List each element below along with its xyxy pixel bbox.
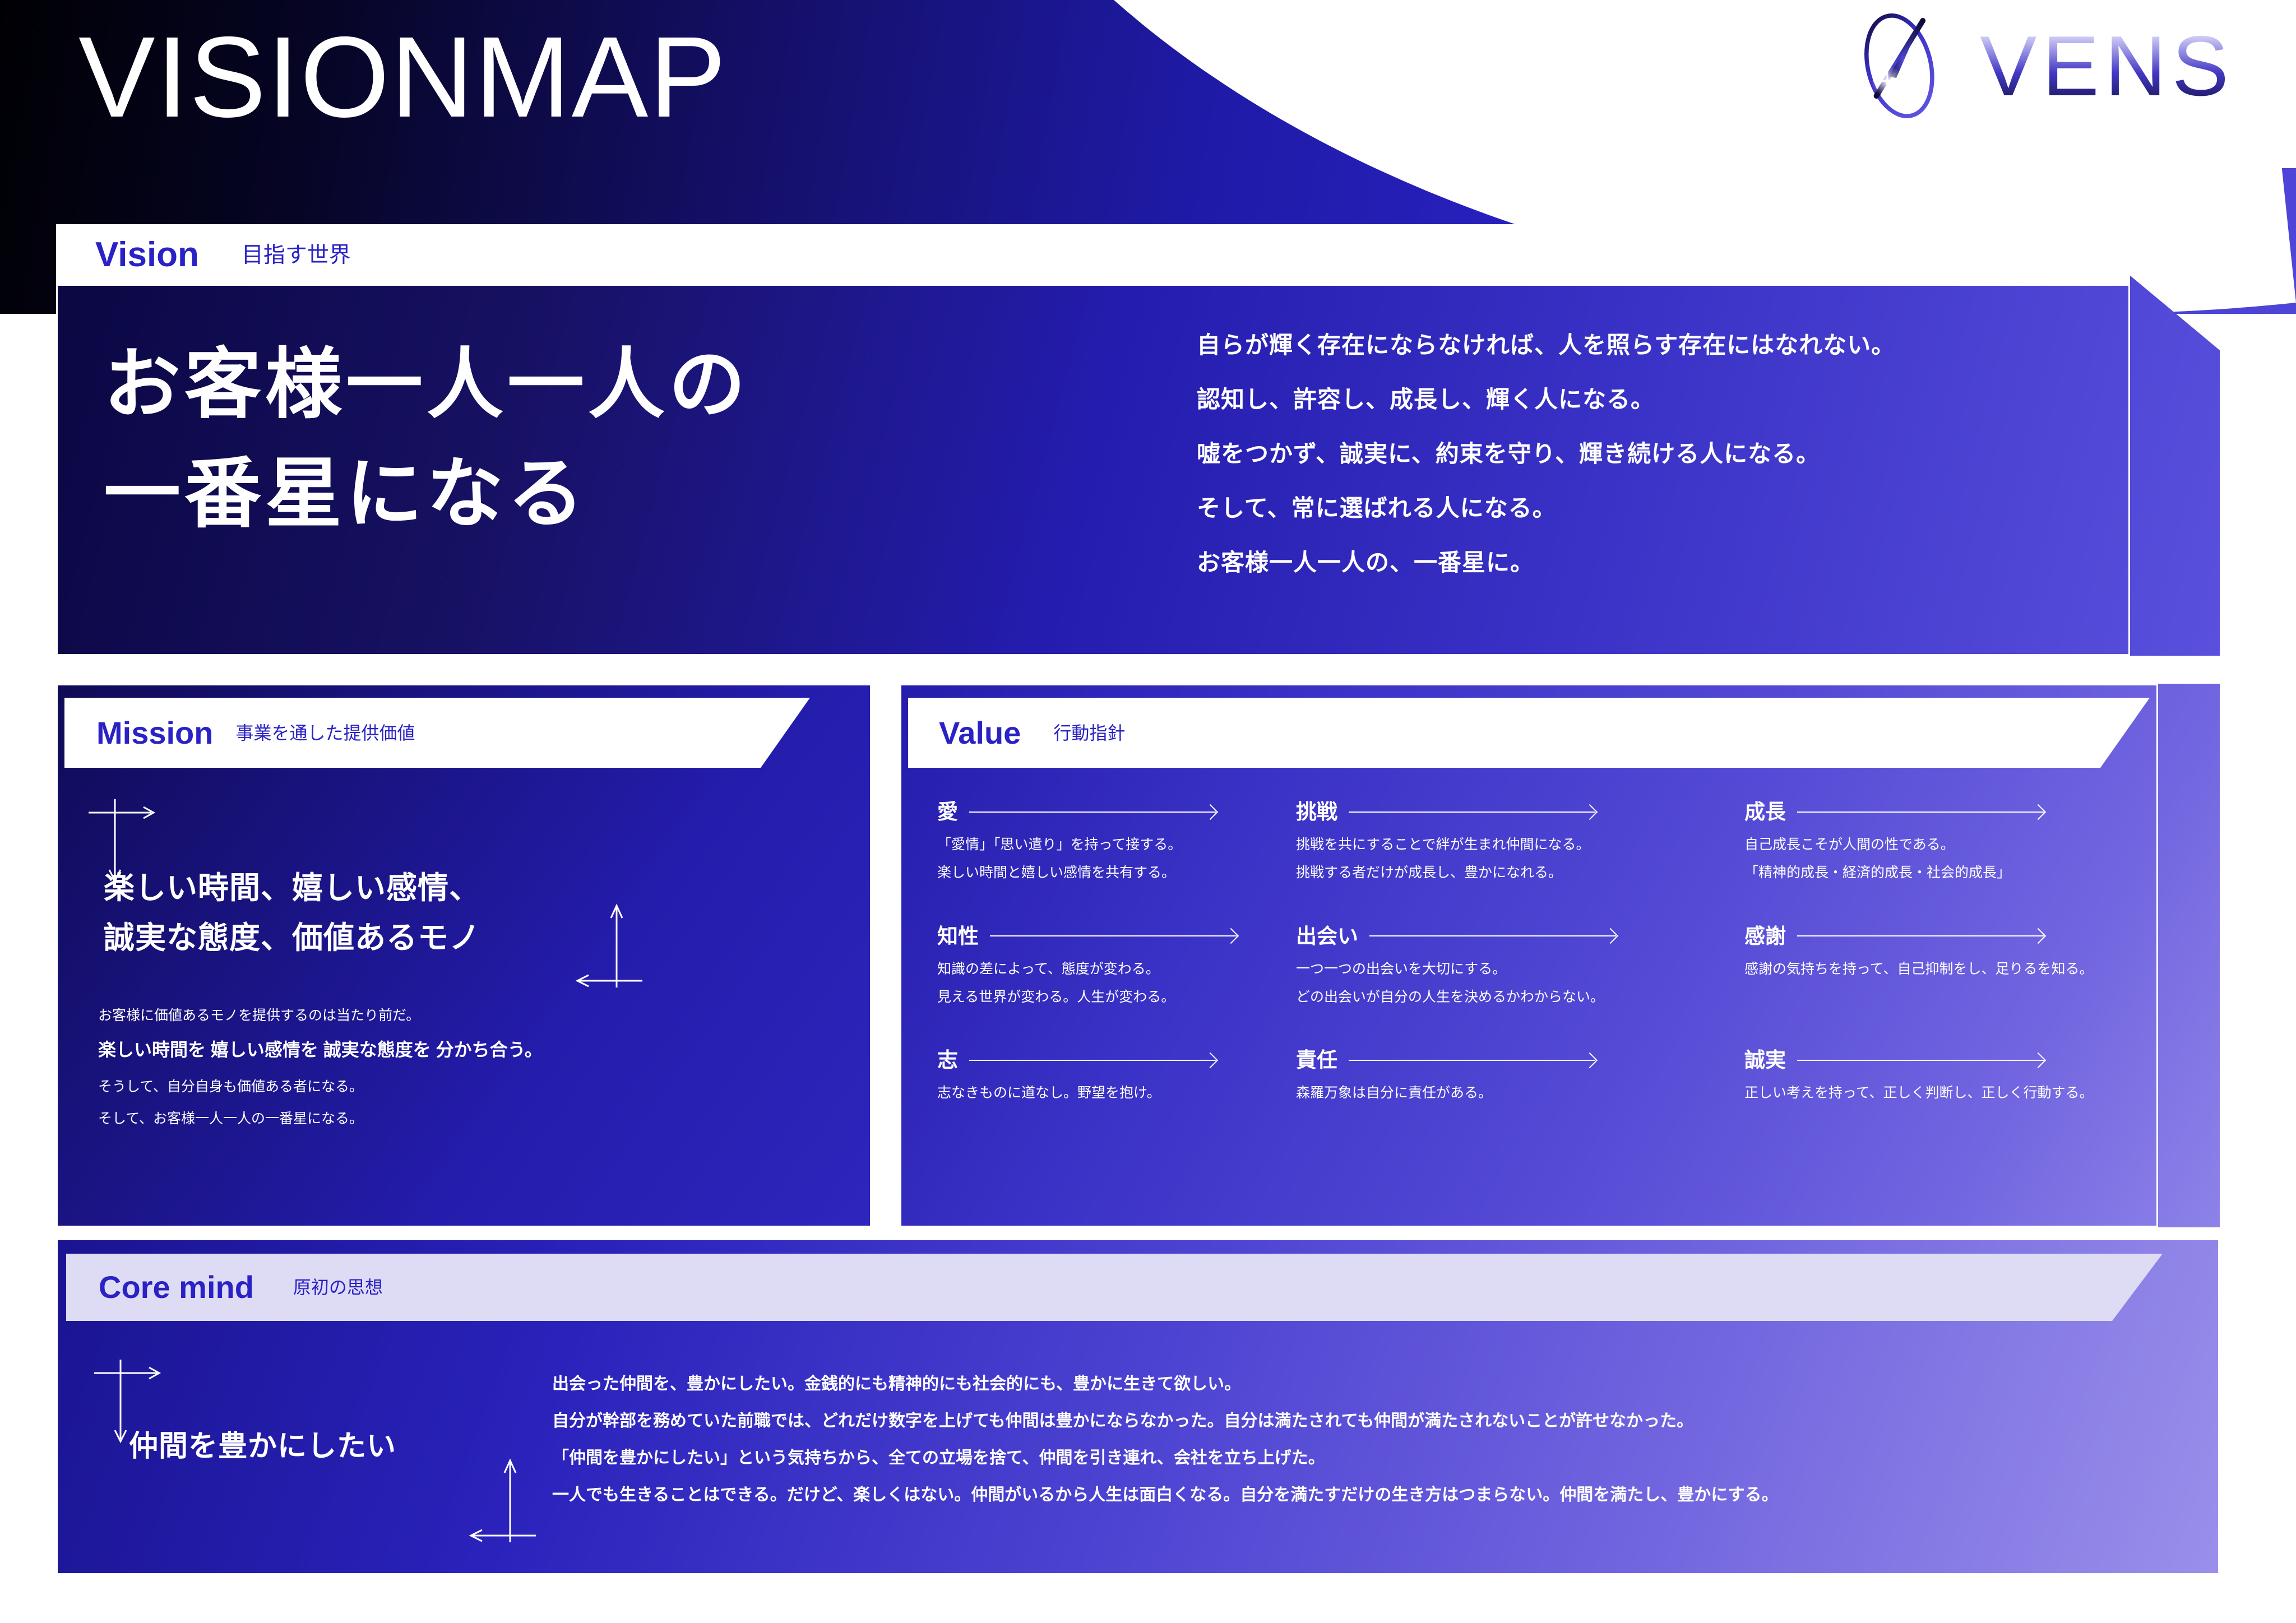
mission-note-line: そうして、自分自身も価値ある者になる。	[98, 1080, 543, 1094]
mission-notes: お客様に価値あるモノを提供するのは当たり前だ。 楽しい時間を 嬉しい感情を 誠実…	[98, 1009, 543, 1144]
vision-body-text: 自らが輝く存在にならなければ、人を照らす存在にはなれない。 認知し、許容し、成長…	[1197, 333, 1895, 605]
arrow-line-icon	[969, 1060, 1216, 1061]
value-label-en: Value	[939, 717, 1021, 749]
vision-body-line: 認知し、許容し、成長し、輝く人になる。	[1197, 388, 1895, 411]
arrow-line-icon	[1797, 1060, 2044, 1061]
value-item-line: 「愛情」「思い遣り」を持って接する。	[937, 834, 1296, 855]
value-item-line: 一つ一つの出会いを大切にする。	[1296, 959, 1744, 979]
value-item-line: 森羅万象は自分に責任がある。	[1296, 1083, 1744, 1103]
mission-label-jp: 事業を通した提供価値	[235, 724, 415, 742]
value-item-line: 挑戦する者だけが成長し、豊かになれる。	[1296, 862, 1744, 883]
value-item-title: 出会い	[1296, 926, 1358, 947]
value-item-title: 誠実	[1744, 1050, 1786, 1070]
vision-body-line: 嘘をつかず、誠実に、約束を守り、輝き続ける人になる。	[1197, 442, 1895, 466]
arrow-line-icon	[1797, 811, 2044, 813]
arrow-line-icon	[990, 935, 1237, 936]
value-section-tag: Value 行動指針	[908, 698, 2150, 768]
value-item-line: 志なきものに道なし。野望を抱け。	[937, 1083, 1296, 1103]
value-item-head: 出会い	[1296, 926, 1744, 947]
value-item: 成長 自己成長こそが人間の性である。 「精神的成長・経済的成長・社会的成長」	[1744, 801, 2210, 891]
value-item-head: 志	[937, 1050, 1296, 1070]
value-item: 責任 森羅万象は自分に責任がある。	[1296, 1050, 1744, 1111]
value-grid: 愛 「愛情」「思い遣り」を持って接する。 楽しい時間と嬉しい感情を共有する。 挑…	[937, 801, 2210, 1111]
core-mind-headline: 仲間を豊かにしたい	[129, 1432, 396, 1461]
value-item-line: 知識の差によって、態度が変わる。	[937, 959, 1296, 979]
value-item-line: 挑戦を共にすることで絆が生まれ仲間になる。	[1296, 834, 1744, 855]
vision-headline-line2: 一番星になる	[104, 440, 749, 549]
mission-note-line: そして、お客様一人一人の一番星になる。	[98, 1112, 543, 1126]
core-mind-section-tag: Core mind 原初の思想	[66, 1254, 2163, 1321]
value-item-line: 「精神的成長・経済的成長・社会的成長」	[1744, 862, 2210, 883]
vision-section-tag: Vision 目指す世界	[56, 224, 2130, 286]
value-item-title: 責任	[1296, 1050, 1337, 1070]
value-item-head: 知性	[937, 926, 1296, 947]
value-item: 愛 「愛情」「思い遣り」を持って接する。 楽しい時間と嬉しい感情を共有する。	[937, 801, 1296, 891]
arrow-line-icon	[1349, 1060, 1595, 1061]
mission-section-tag: Mission 事業を通した提供価値	[64, 698, 810, 768]
value-item-line: 楽しい時間と嬉しい感情を共有する。	[937, 862, 1296, 883]
vision-label-jp: 目指す世界	[242, 244, 351, 266]
mission-note-line: お客様に価値あるモノを提供するのは当たり前だ。	[98, 1009, 543, 1023]
value-item-line: 感謝の気持ちを持って、自己抑制をし、足りるを知る。	[1744, 959, 2210, 979]
vision-headline: お客様一人一人の 一番星になる	[104, 331, 749, 549]
vens-ellipse-comet-icon	[1840, 6, 1961, 126]
mission-label-en: Mission	[96, 717, 213, 749]
value-item-head: 誠実	[1744, 1050, 2210, 1070]
value-item-title: 知性	[937, 926, 979, 947]
mission-headline-line2: 誠実な態度、価値あるモノ	[104, 913, 480, 963]
arrow-line-icon	[1349, 811, 1595, 813]
value-item-head: 成長	[1744, 801, 2210, 822]
value-item-title: 成長	[1744, 801, 1786, 822]
mission-headline-line1: 楽しい時間、嬉しい感情、	[104, 863, 480, 913]
core-mind-body-line: 自分が幹部を務めていた前職では、どれだけ数字を上げても仲間は豊かにならなかった。…	[552, 1413, 1779, 1430]
value-item-head: 責任	[1296, 1050, 1744, 1070]
core-mind-label-jp: 原初の思想	[293, 1278, 383, 1296]
vision-body-line: そして、常に選ばれる人になる。	[1197, 497, 1895, 520]
value-item-line: どの出会いが自分の人生を決めるかわからない。	[1296, 987, 1744, 1007]
arrow-line-icon	[1369, 935, 1616, 936]
value-item: 挑戦 挑戦を共にすることで絆が生まれ仲間になる。 挑戦する者だけが成長し、豊かに…	[1296, 801, 1744, 891]
value-item: 志 志なきものに道なし。野望を抱け。	[937, 1050, 1296, 1111]
value-item-title: 感謝	[1744, 926, 1786, 947]
core-mind-body-text: 出会った仲間を、豊かにしたい。金銭的にも精神的にも社会的にも、豊かに生きて欲しい…	[552, 1376, 1779, 1524]
brand-name: VENS	[1980, 24, 2234, 109]
vision-body-line: 自らが輝く存在にならなければ、人を照らす存在にはなれない。	[1197, 333, 1895, 357]
value-item-line: 見える世界が変わる。人生が変わる。	[937, 987, 1296, 1007]
value-label-jp: 行動指針	[1053, 724, 1125, 742]
mission-note-line-emphasis: 楽しい時間を 嬉しい感情を 誠実な態度を 分かち合う。	[98, 1041, 543, 1059]
value-item-head: 感謝	[1744, 926, 2210, 947]
vision-label-en: Vision	[95, 238, 199, 272]
value-item-line: 自己成長こそが人間の性である。	[1744, 834, 2210, 855]
core-mind-body-line: 一人でも生きることはできる。だけど、楽しくはない。仲間がいるから人生は面白くなる…	[552, 1487, 1779, 1504]
core-mind-corner-arrow-bottom-right	[454, 1457, 544, 1552]
core-mind-body-line: 「仲間を豊かにしたい」という気持ちから、全ての立場を捨て、仲間を引き連れ、会社を…	[552, 1450, 1779, 1467]
value-item: 感謝 感謝の気持ちを持って、自己抑制をし、足りるを知る。	[1744, 926, 2210, 1015]
value-item-title: 志	[937, 1050, 958, 1070]
core-mind-body-line: 出会った仲間を、豊かにしたい。金銭的にも精神的にも社会的にも、豊かに生きて欲しい…	[552, 1376, 1779, 1393]
mission-corner-arrow-bottom-right	[561, 902, 650, 998]
vision-body-line: お客様一人一人の、一番星に。	[1197, 551, 1895, 574]
value-item: 出会い 一つ一つの出会いを大切にする。 どの出会いが自分の人生を決めるかわからな…	[1296, 926, 1744, 1015]
mission-headline: 楽しい時間、嬉しい感情、 誠実な態度、価値あるモノ	[104, 863, 480, 963]
value-item: 誠実 正しい考えを持って、正しく判断し、正しく行動する。	[1744, 1050, 2210, 1111]
brand-logo: VENS	[1840, 6, 2234, 126]
value-item-head: 挑戦	[1296, 801, 1744, 822]
value-item-line: 正しい考えを持って、正しく判断し、正しく行動する。	[1744, 1083, 2210, 1103]
page-title: VISIONMAP	[78, 20, 727, 135]
value-item-title: 挑戦	[1296, 801, 1337, 822]
arrow-line-icon	[969, 811, 1216, 813]
core-mind-label-en: Core mind	[99, 1272, 254, 1303]
vision-headline-line1: お客様一人一人の	[104, 331, 749, 440]
arrow-line-icon	[1797, 935, 2044, 936]
value-item-head: 愛	[937, 801, 1296, 822]
value-item: 知性 知識の差によって、態度が変わる。 見える世界が変わる。人生が変わる。	[937, 926, 1296, 1015]
value-item-title: 愛	[937, 801, 958, 822]
